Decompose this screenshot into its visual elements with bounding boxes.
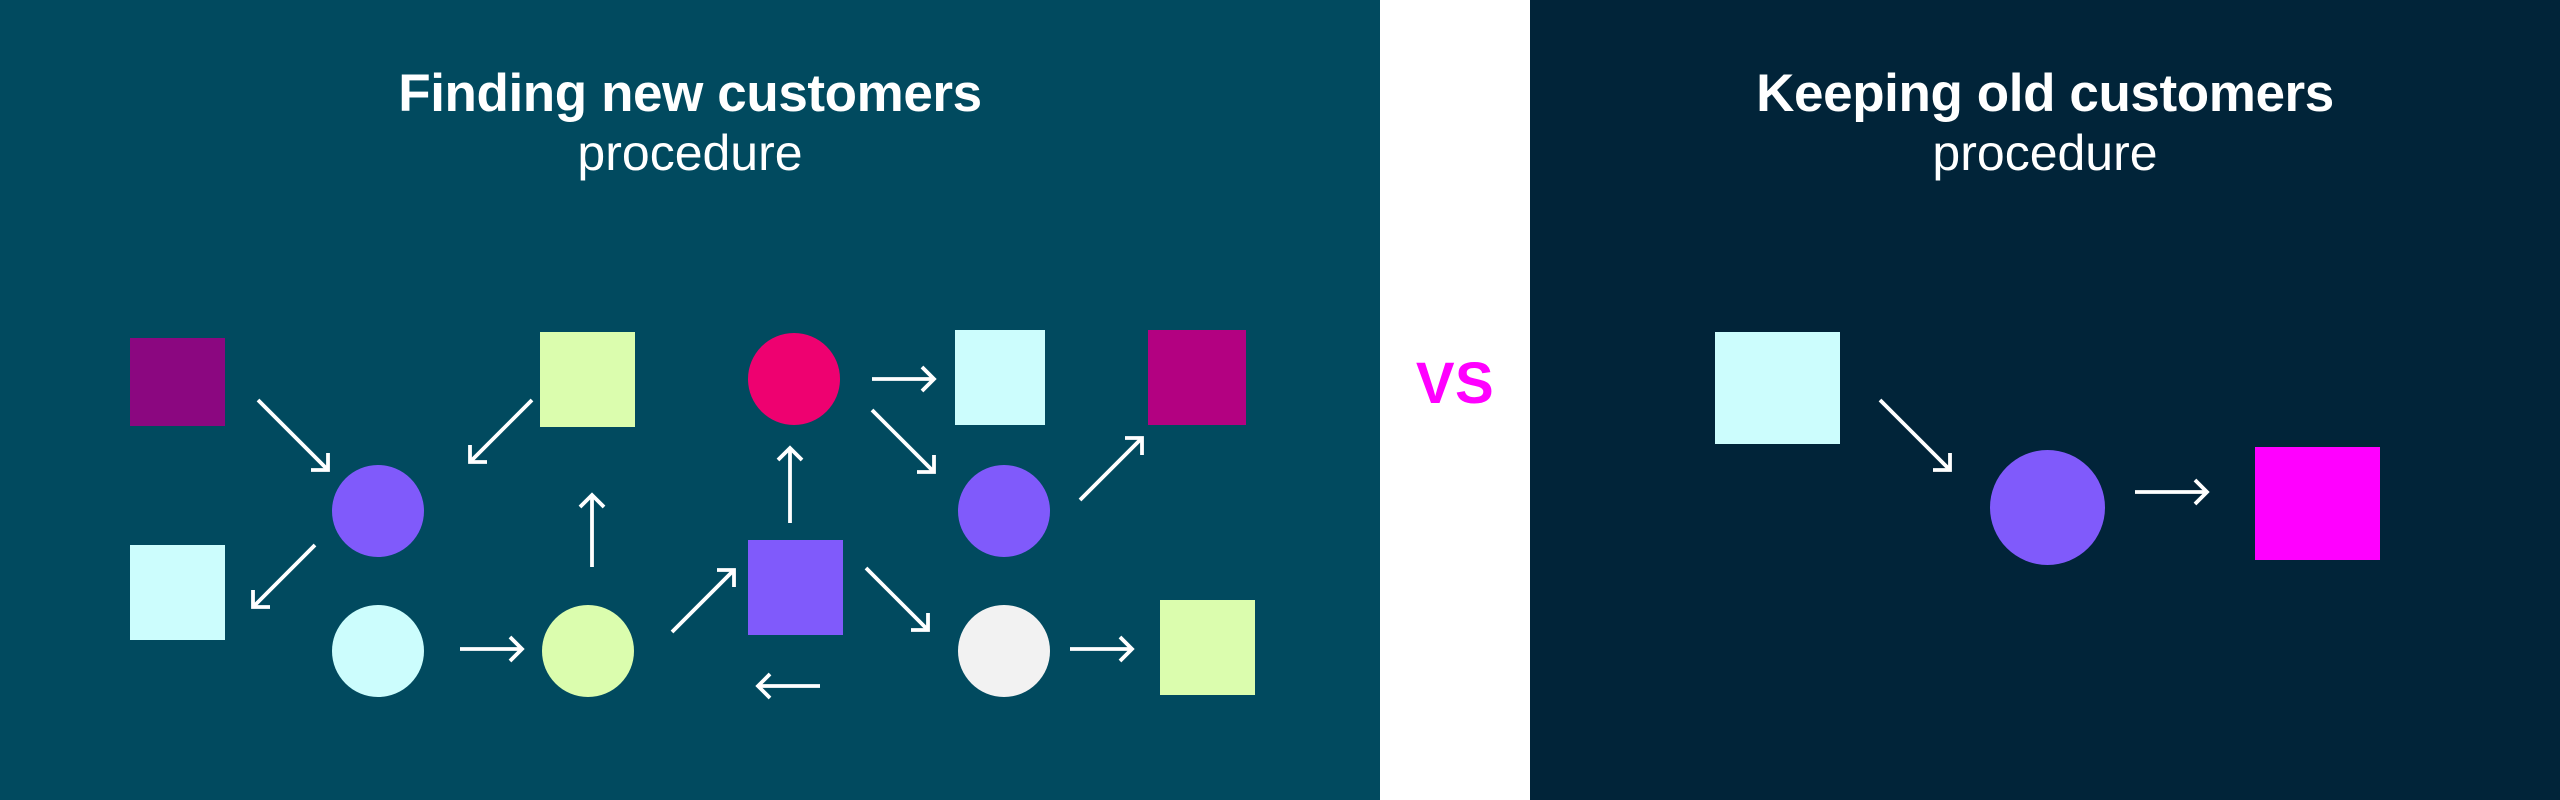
panel-keeping-old-customers: Keeping old customers procedure xyxy=(1530,0,2560,800)
green-circle xyxy=(542,605,634,697)
panel-finding-new-customers: Finding new customers procedure xyxy=(0,0,1380,800)
crimson-circle xyxy=(748,333,840,425)
purple-circle-1 xyxy=(332,465,424,557)
right-panel-title: Keeping old customers xyxy=(1530,66,2560,122)
light-green-square-1 xyxy=(540,332,635,427)
slide-canvas: Finding new customers procedure VS Keepi… xyxy=(0,0,2560,800)
arrow-right-2-icon xyxy=(460,635,536,663)
light-green-square-2 xyxy=(1160,600,1255,695)
cyan-square-2 xyxy=(130,545,225,640)
purple-square xyxy=(130,338,225,426)
cyan-square-1 xyxy=(955,330,1045,425)
arrow-up-right-2-icon xyxy=(672,570,748,646)
arrow-up-1-icon xyxy=(776,448,804,537)
arrow-down-right-3-icon xyxy=(866,568,942,644)
arrow-down-left-2-icon xyxy=(253,545,329,621)
left-panel-title: Finding new customers xyxy=(0,66,1380,122)
right-panel-heading: Keeping old customers procedure xyxy=(1530,66,2560,184)
arrow-up-2-icon xyxy=(578,495,606,581)
arrow-right-3-icon xyxy=(1070,635,1146,663)
arrow-down-right-2-icon xyxy=(872,410,948,486)
arrow-right-1-icon xyxy=(872,365,948,393)
vs-label: VS xyxy=(1380,355,1530,413)
left-panel-heading: Finding new customers procedure xyxy=(0,66,1380,184)
cyan-circle xyxy=(332,605,424,697)
arrow-down-right-1-icon xyxy=(258,400,342,484)
purple-square-2 xyxy=(748,540,843,635)
arrow-up-right-1-icon xyxy=(1080,438,1156,514)
purple-circle-2 xyxy=(958,465,1050,557)
white-circle xyxy=(958,605,1050,697)
left-panel-subtitle: procedure xyxy=(0,122,1380,185)
right-panel-subtitle: procedure xyxy=(1530,122,2560,185)
arrow-down-left-1-icon xyxy=(470,400,546,476)
arrow-left-1-icon xyxy=(758,672,834,700)
magenta-square xyxy=(1148,330,1246,425)
